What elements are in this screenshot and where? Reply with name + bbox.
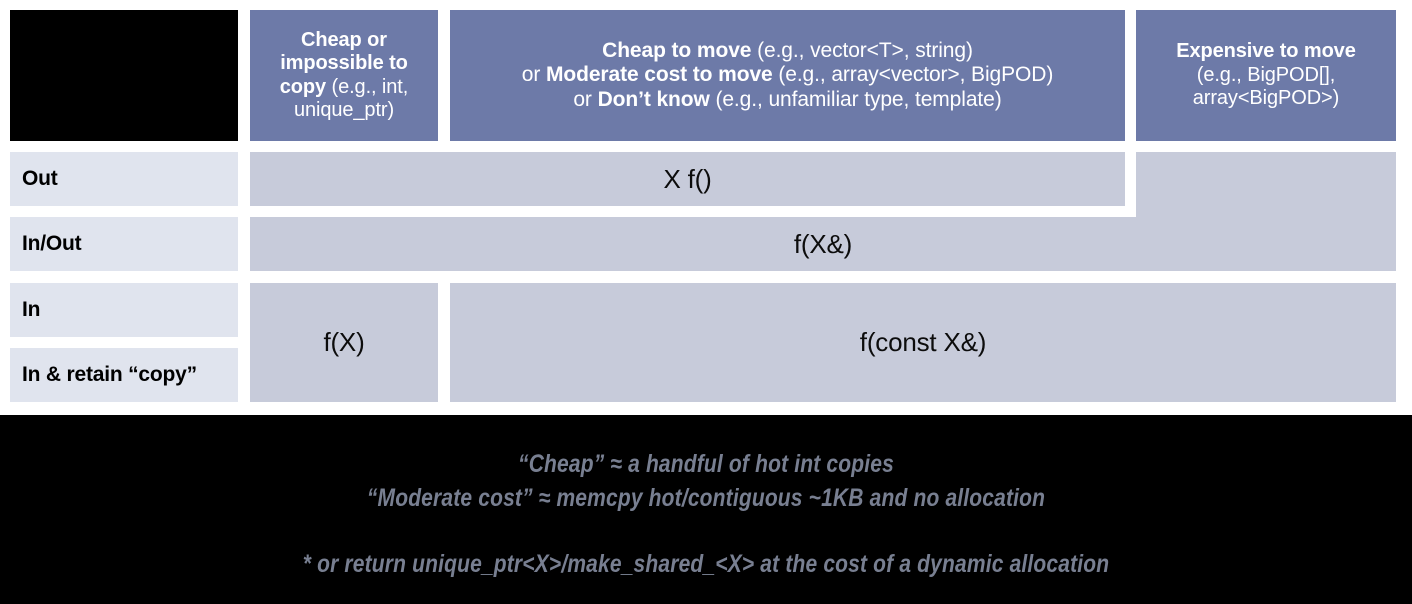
table-corner-block bbox=[10, 10, 238, 141]
cell-out-move: X f() bbox=[250, 152, 1125, 206]
cell-in-out: f(X&) bbox=[250, 217, 1396, 271]
row-header-in: In bbox=[10, 283, 238, 337]
row-header-label: In bbox=[22, 298, 40, 322]
row-header-label: Out bbox=[22, 167, 58, 191]
slide-canvas: Cheap or impossible to copy (e.g., int, … bbox=[0, 0, 1412, 604]
row-header-label: In & retain “copy” bbox=[22, 363, 197, 387]
column-header-text: Expensive to move (e.g., BigPOD[], array… bbox=[1176, 40, 1355, 110]
cell-text: f(const X&) bbox=[860, 327, 986, 358]
footnote-moderate-cost: “Moderate cost” ≈ memcpy hot/contiguous … bbox=[113, 484, 1299, 513]
column-header-text: Cheap or impossible to copy (e.g., int, … bbox=[280, 29, 408, 123]
column-header-cheap-or-moderate-to-move: Cheap to move (e.g., vector<T>, string) … bbox=[450, 10, 1125, 141]
footnote-return-smart-pointer: * or return unique_ptr<X>/make_shared_<X… bbox=[113, 550, 1299, 579]
row-header-in-retain-copy: In & retain “copy” bbox=[10, 348, 238, 402]
cell-in-cheap-copy: f(X) bbox=[250, 283, 438, 402]
cell-text: f(X) bbox=[323, 327, 364, 358]
column-header-expensive-to-move: Expensive to move (e.g., BigPOD[], array… bbox=[1136, 10, 1396, 141]
cell-text: X f() bbox=[663, 164, 711, 195]
footnote-cheap: “Cheap” ≈ a handful of hot int copies bbox=[113, 450, 1299, 479]
column-header-text: Cheap to move (e.g., vector<T>, string) … bbox=[522, 39, 1053, 113]
row-header-label: In/Out bbox=[22, 232, 81, 256]
column-header-cheap-or-impossible-to-copy: Cheap or impossible to copy (e.g., int, … bbox=[250, 10, 438, 141]
cell-in-move: f(const X&) bbox=[450, 283, 1396, 402]
row-header-out: Out bbox=[10, 152, 238, 206]
row-header-in-out: In/Out bbox=[10, 217, 238, 271]
cell-text: f(X&) bbox=[794, 229, 852, 260]
